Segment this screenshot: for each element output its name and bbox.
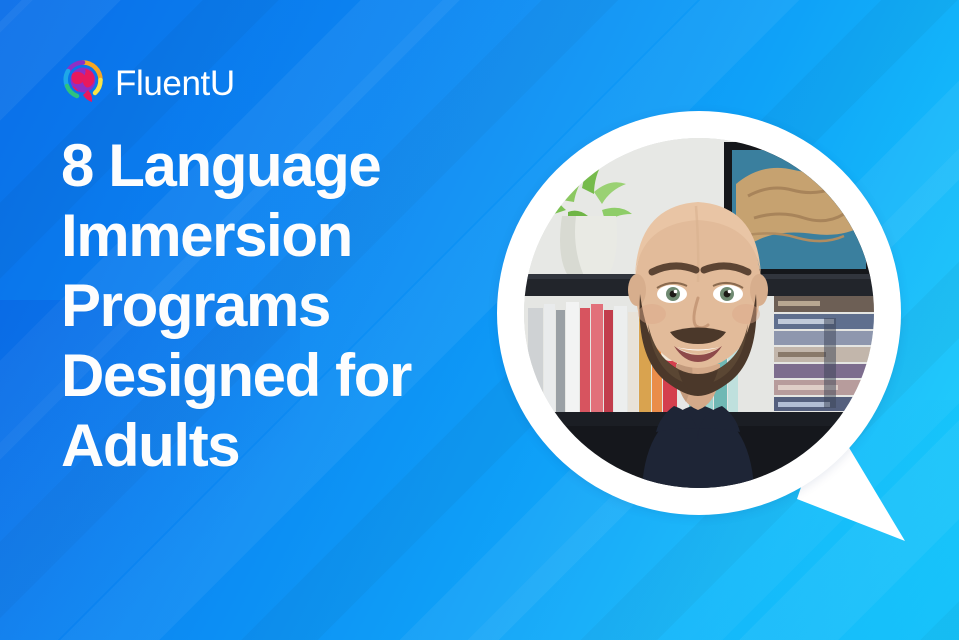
headline-line-4: Designed for [61,341,541,411]
promo-banner: FluentU 8 Language Immersion Programs De… [0,0,959,640]
speech-bubble-portrait [497,111,901,515]
portrait-photo [524,138,874,488]
headline-line-1: 8 Language [61,131,541,201]
brand-logo[interactable]: FluentU [62,60,235,106]
headline-line-5: Adults [61,411,541,481]
headline-line-3: Programs [61,271,541,341]
brand-name: FluentU [115,66,235,101]
globe-speech-bubble-icon [62,60,104,106]
headline-line-2: Immersion [61,201,541,271]
portrait-illustration [524,138,874,488]
page-title: 8 Language Immersion Programs Designed f… [61,131,541,481]
